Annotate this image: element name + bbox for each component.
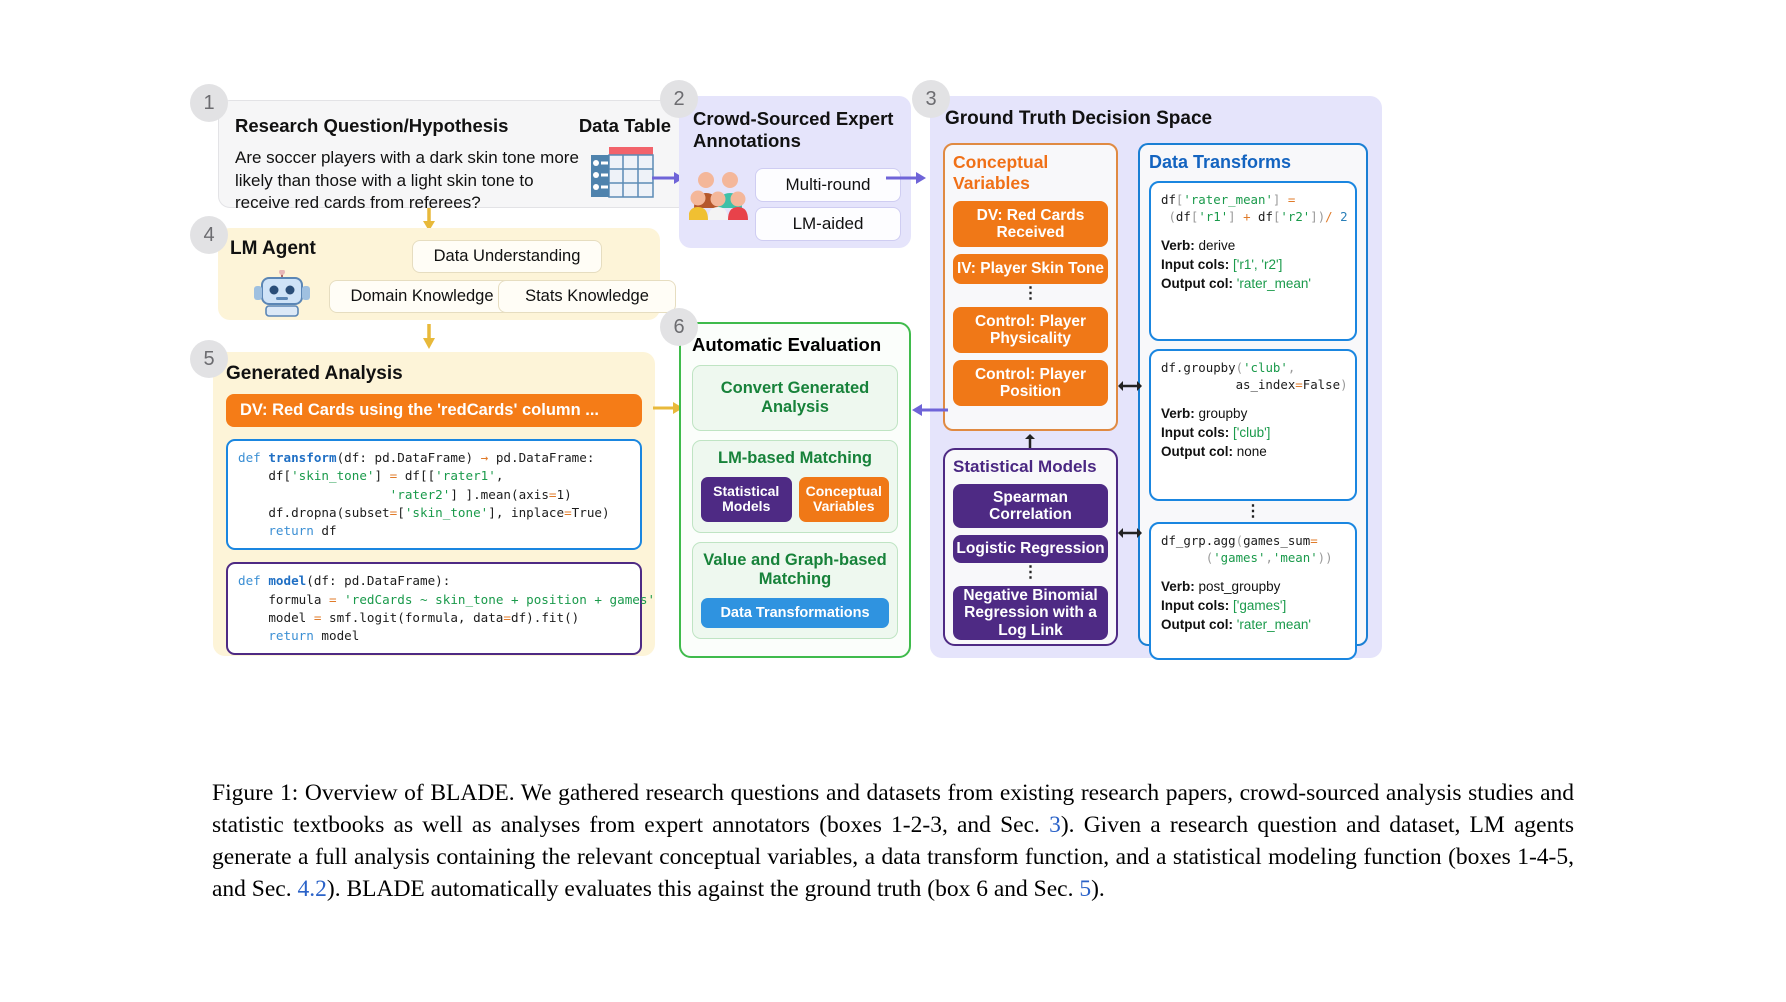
arrow-crowd-to-groundtruth bbox=[886, 170, 926, 186]
transform-meta-2: Verb: groupby Input cols: ['club'] Outpu… bbox=[1161, 405, 1345, 462]
transform-code-2: df.groupby('club', as_index=False) bbox=[1161, 360, 1345, 393]
crowd-sourced-annotations-panel: Crowd-Sourced Expert Annotations Multi-r… bbox=[679, 96, 911, 248]
chip-statistical-models[interactable]: Statistical Models bbox=[701, 477, 792, 522]
arrow-agent-to-analysis bbox=[421, 324, 437, 350]
verb-label-2: Verb: bbox=[1161, 406, 1195, 421]
eval-card-value-graph-title: Value and Graph-based Matching bbox=[701, 551, 889, 589]
verb-value-3: post_groupby bbox=[1199, 579, 1281, 594]
sm-item-spearman[interactable]: Spearman Correlation bbox=[953, 484, 1108, 528]
eval-card-lm-matching[interactable]: LM-based Matching Statistical Models Con… bbox=[692, 440, 898, 533]
verb-label-1: Verb: bbox=[1161, 238, 1195, 253]
caption-ref-2[interactable]: 4.2 bbox=[298, 876, 327, 902]
caption-ref-3[interactable]: 5 bbox=[1079, 876, 1091, 902]
dv-banner[interactable]: DV: Red Cards using the 'redCards' colum… bbox=[226, 394, 642, 427]
people-group-icon bbox=[689, 168, 751, 220]
generated-analysis-panel: Generated Analysis DV: Red Cards using t… bbox=[213, 352, 655, 656]
caption-figure-label: Figure 1: bbox=[212, 780, 298, 806]
input-value-2: ['club'] bbox=[1233, 425, 1270, 440]
robot-icon bbox=[254, 270, 310, 318]
statistical-models-title: Statistical Models bbox=[953, 457, 1108, 477]
ground-truth-decision-space-panel: Ground Truth Decision Space Conceptual V… bbox=[930, 96, 1382, 658]
generated-analysis-title: Generated Analysis bbox=[226, 363, 642, 385]
automatic-evaluation-title: Automatic Evaluation bbox=[692, 334, 898, 356]
input-label-2: Input cols: bbox=[1161, 425, 1229, 440]
step-badge-4: 4 bbox=[190, 216, 228, 254]
verb-value-2: groupby bbox=[1199, 406, 1248, 421]
conceptual-variables-title: Conceptual Variables bbox=[953, 152, 1108, 194]
chip-conceptual-variables[interactable]: Conceptual Variables bbox=[799, 477, 890, 522]
transform-meta-1: Verb: derive Input cols: ['r1', 'r2'] Ou… bbox=[1161, 237, 1345, 294]
pill-domain-knowledge[interactable]: Domain Knowledge bbox=[329, 280, 515, 313]
research-question-text: Are soccer players with a dark skin tone… bbox=[235, 147, 580, 215]
lm-agent-panel: LM Agent Data Understanding Domain Knowl… bbox=[218, 228, 660, 320]
input-label-1: Input cols: bbox=[1161, 257, 1229, 272]
input-label-3: Input cols: bbox=[1161, 598, 1229, 613]
cv-item-dv[interactable]: DV: Red Cards Received bbox=[953, 201, 1108, 247]
transform-card-3[interactable]: df_grp.agg(games_sum= ('games','mean')) … bbox=[1149, 522, 1357, 660]
figure-canvas: 1 Research Question/Hypothesis Are socce… bbox=[0, 0, 1786, 1002]
eval-card-value-graph-matching[interactable]: Value and Graph-based Matching Data Tran… bbox=[692, 542, 898, 640]
sm-item-logistic[interactable]: Logistic Regression bbox=[953, 535, 1108, 563]
caption-part-3: ). BLADE automatically evaluates this ag… bbox=[327, 876, 1079, 902]
figure-caption: Figure 1: Overview of BLADE. We gathered… bbox=[212, 778, 1574, 906]
output-label-3: Output col: bbox=[1161, 617, 1233, 632]
transform-card-1[interactable]: df['rater_mean'] = (df['r1'] + df['r2'])… bbox=[1149, 181, 1357, 341]
sm-ellipsis: ⋮ bbox=[953, 567, 1108, 579]
step-badge-2: 2 bbox=[660, 80, 698, 118]
transforms-ellipsis: ⋮ bbox=[1149, 506, 1357, 518]
cv-item-control-position[interactable]: Control: Player Position bbox=[953, 360, 1108, 406]
model-function-code-block[interactable]: def model(df: pd.DataFrame): formula = '… bbox=[226, 562, 642, 655]
output-value-3: 'rater_mean' bbox=[1237, 617, 1311, 632]
transform-code-1: df['rater_mean'] = (df['r1'] + df['r2'])… bbox=[1161, 192, 1345, 225]
pill-data-understanding[interactable]: Data Understanding bbox=[412, 240, 602, 273]
transform-function-code-block[interactable]: def transform(df: pd.DataFrame) → pd.Dat… bbox=[226, 439, 642, 550]
verb-value-1: derive bbox=[1199, 238, 1236, 253]
crowd-panel-title: Crowd-Sourced Expert Annotations bbox=[693, 108, 897, 152]
transform-code-3: df_grp.agg(games_sum= ('games','mean')) bbox=[1161, 533, 1345, 566]
data-table-icon bbox=[591, 145, 655, 199]
transform-function-code: def transform(df: pd.DataFrame) → pd.Dat… bbox=[238, 449, 630, 540]
research-question-panel: Research Question/Hypothesis Are soccer … bbox=[218, 100, 690, 208]
eval-card-convert[interactable]: Convert Generated Analysis bbox=[692, 365, 898, 431]
caption-ref-1[interactable]: 3 bbox=[1049, 812, 1061, 838]
input-value-1: ['r1', 'r2'] bbox=[1233, 257, 1282, 272]
sm-item-negbinom[interactable]: Negative Binomial Regression with a Log … bbox=[953, 586, 1108, 640]
chip-data-transformations[interactable]: Data Transformations bbox=[701, 598, 889, 629]
output-value-2: none bbox=[1237, 444, 1267, 459]
eval-card-lm-matching-title: LM-based Matching bbox=[701, 449, 889, 468]
transform-meta-3: Verb: post_groupby Input cols: ['games']… bbox=[1161, 578, 1345, 635]
cv-ellipsis: ⋮ bbox=[953, 288, 1108, 300]
data-transforms-title: Data Transforms bbox=[1149, 152, 1357, 173]
pill-stats-knowledge[interactable]: Stats Knowledge bbox=[498, 280, 676, 313]
caption-part-4: ). bbox=[1091, 876, 1105, 902]
cv-item-iv[interactable]: IV: Player Skin Tone bbox=[953, 254, 1108, 284]
cv-item-control-physicality[interactable]: Control: Player Physicality bbox=[953, 307, 1108, 353]
model-function-code: def model(df: pd.DataFrame): formula = '… bbox=[238, 572, 630, 645]
arrow-sm-to-transforms bbox=[1118, 526, 1142, 540]
conceptual-variables-panel: Conceptual Variables DV: Red Cards Recei… bbox=[943, 143, 1118, 431]
data-transforms-panel: Data Transforms df['rater_mean'] = (df['… bbox=[1138, 143, 1368, 646]
arrow-groundtruth-to-eval bbox=[912, 402, 948, 418]
arrow-cv-to-transforms bbox=[1118, 379, 1142, 393]
statistical-models-panel: Statistical Models Spearman Correlation … bbox=[943, 448, 1118, 646]
step-badge-1: 1 bbox=[190, 84, 228, 122]
step-badge-6: 6 bbox=[660, 308, 698, 346]
automatic-evaluation-panel: Automatic Evaluation Convert Generated A… bbox=[679, 322, 911, 658]
step-badge-5: 5 bbox=[190, 340, 228, 378]
output-label-2: Output col: bbox=[1161, 444, 1233, 459]
ground-truth-title: Ground Truth Decision Space bbox=[945, 108, 1370, 130]
data-table-title: Data Table bbox=[579, 115, 671, 137]
step-badge-3: 3 bbox=[912, 80, 950, 118]
pill-multi-round[interactable]: Multi-round bbox=[755, 168, 901, 202]
pill-lm-aided[interactable]: LM-aided bbox=[755, 207, 901, 241]
transform-card-2[interactable]: df.groupby('club', as_index=False) Verb:… bbox=[1149, 349, 1357, 501]
output-value-1: 'rater_mean' bbox=[1237, 276, 1311, 291]
output-label-1: Output col: bbox=[1161, 276, 1233, 291]
input-value-3: ['games'] bbox=[1233, 598, 1286, 613]
verb-label-3: Verb: bbox=[1161, 579, 1195, 594]
